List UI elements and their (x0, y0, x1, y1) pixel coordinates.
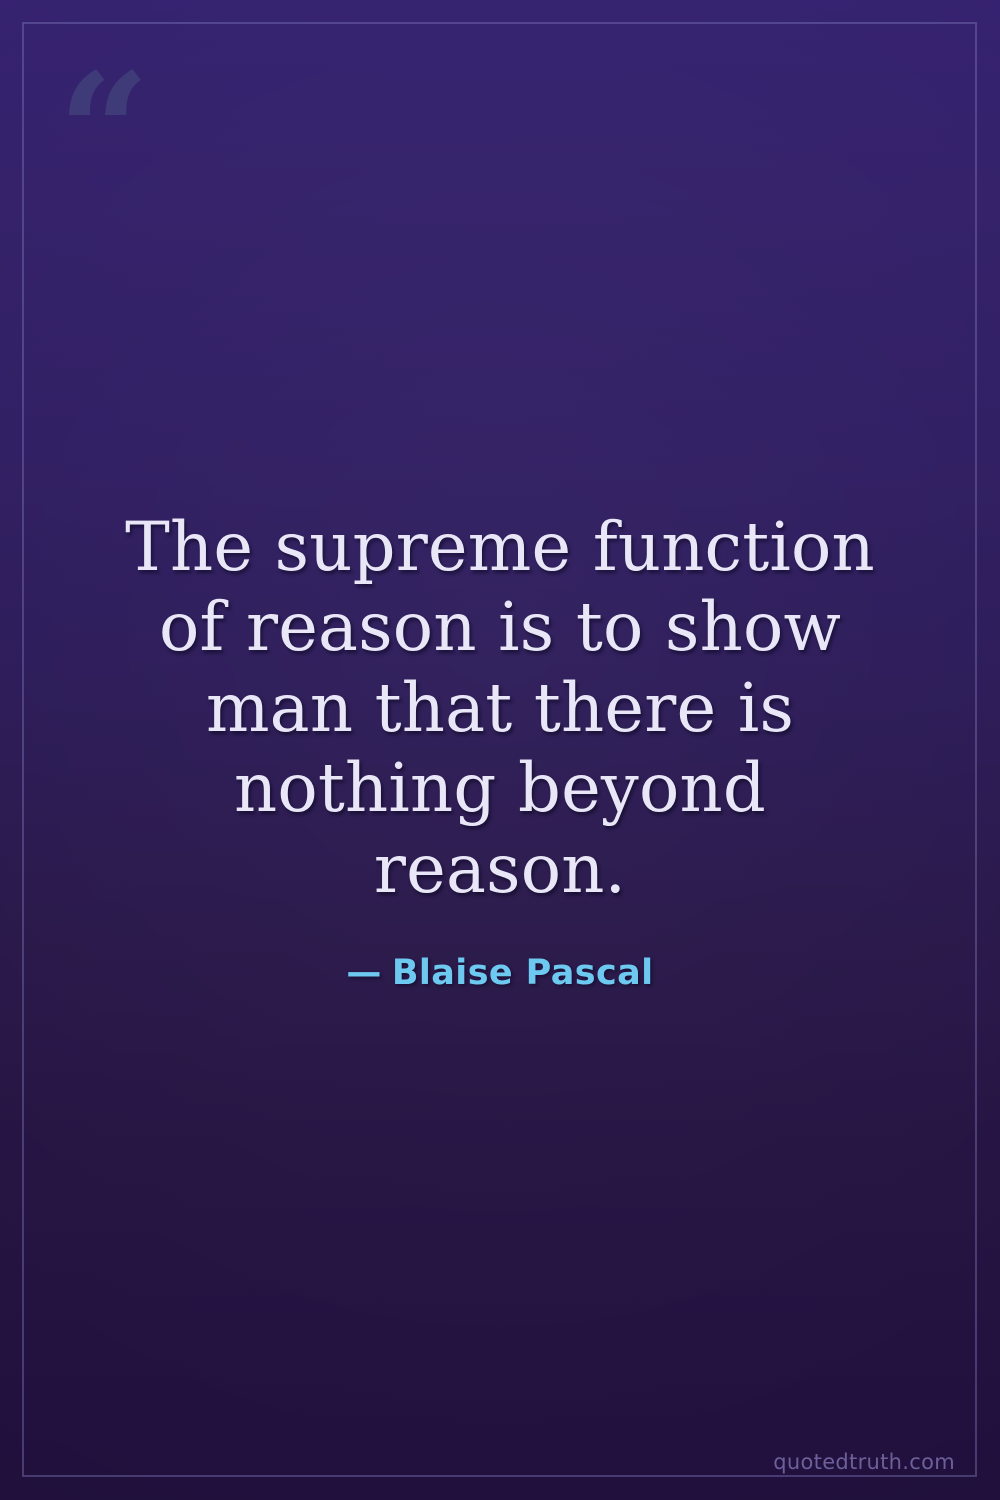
attribution-author-name: Blaise Pascal (392, 953, 654, 993)
quote-attribution: —Blaise Pascal (346, 953, 653, 993)
quote-card: “ The supreme function of reason is to s… (0, 0, 1000, 1500)
quote-content: The supreme function of reason is to sho… (0, 0, 1000, 1500)
quote-text: The supreme function of reason is to sho… (100, 507, 900, 909)
attribution-dash: — (346, 953, 381, 993)
site-watermark: quotedtruth.com (773, 1450, 955, 1474)
